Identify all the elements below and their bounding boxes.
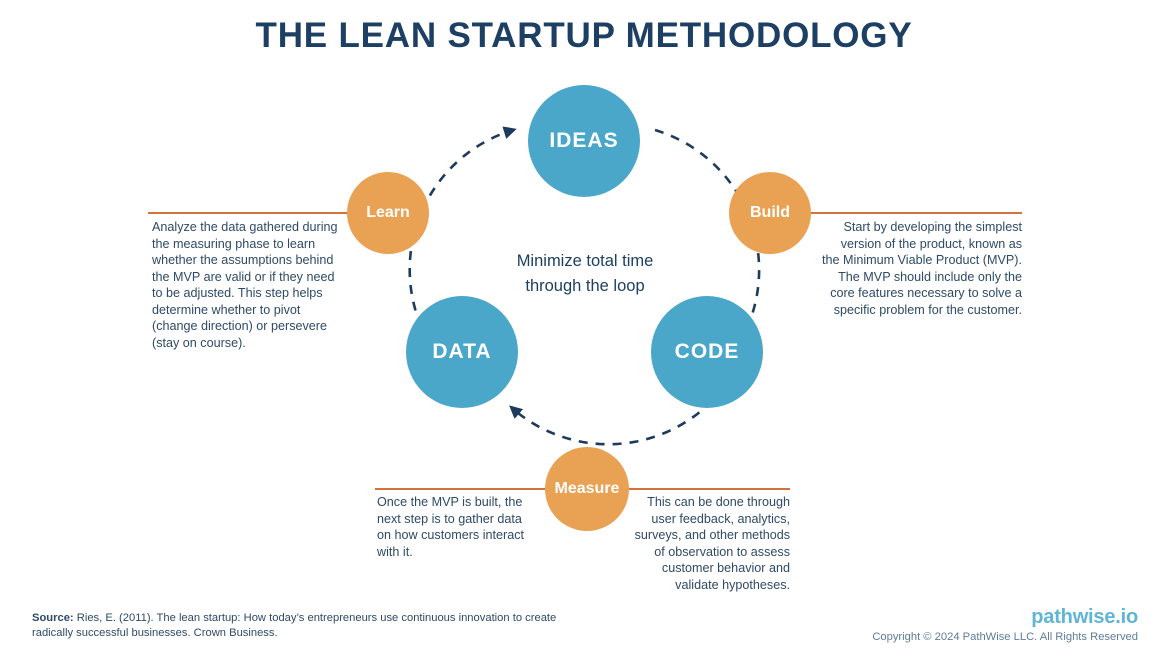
- node-measure-label: Measure: [555, 480, 620, 498]
- node-code-label: CODE: [675, 340, 740, 364]
- footer-copyright: Copyright © 2024 PathWise LLC. All Right…: [872, 631, 1138, 643]
- node-ideas-label: IDEAS: [549, 129, 618, 153]
- node-learn-label: Learn: [366, 204, 410, 222]
- node-data[interactable]: DATA: [406, 296, 518, 408]
- arc-code-to-data: [512, 401, 712, 444]
- node-code[interactable]: CODE: [651, 296, 763, 408]
- node-measure[interactable]: Measure: [545, 447, 629, 531]
- description-build: Start by developing the simplest version…: [822, 219, 1022, 318]
- footer-source: Source: Ries, E. (2011). The lean startu…: [32, 611, 572, 641]
- description-measure-right: This can be done through user feedback, …: [630, 494, 790, 593]
- pathwise-logo[interactable]: pathwise.io: [1031, 606, 1138, 629]
- node-build[interactable]: Build: [729, 172, 811, 254]
- node-learn[interactable]: Learn: [347, 172, 429, 254]
- node-build-label: Build: [750, 204, 790, 222]
- node-data-label: DATA: [432, 340, 491, 364]
- footer-source-text: Ries, E. (2011). The lean startup: How t…: [32, 612, 556, 639]
- node-ideas[interactable]: IDEAS: [528, 85, 640, 197]
- footer-source-label: Source:: [32, 612, 74, 624]
- center-caption: Minimize total time through the loop: [489, 249, 681, 299]
- description-measure-left: Once the MVP is built, the next step is …: [377, 494, 537, 560]
- infographic-canvas: THE LEAN STARTUP METHODOLOGY Minimize to…: [0, 0, 1168, 657]
- description-learn: Analyze the data gathered during the mea…: [152, 219, 347, 351]
